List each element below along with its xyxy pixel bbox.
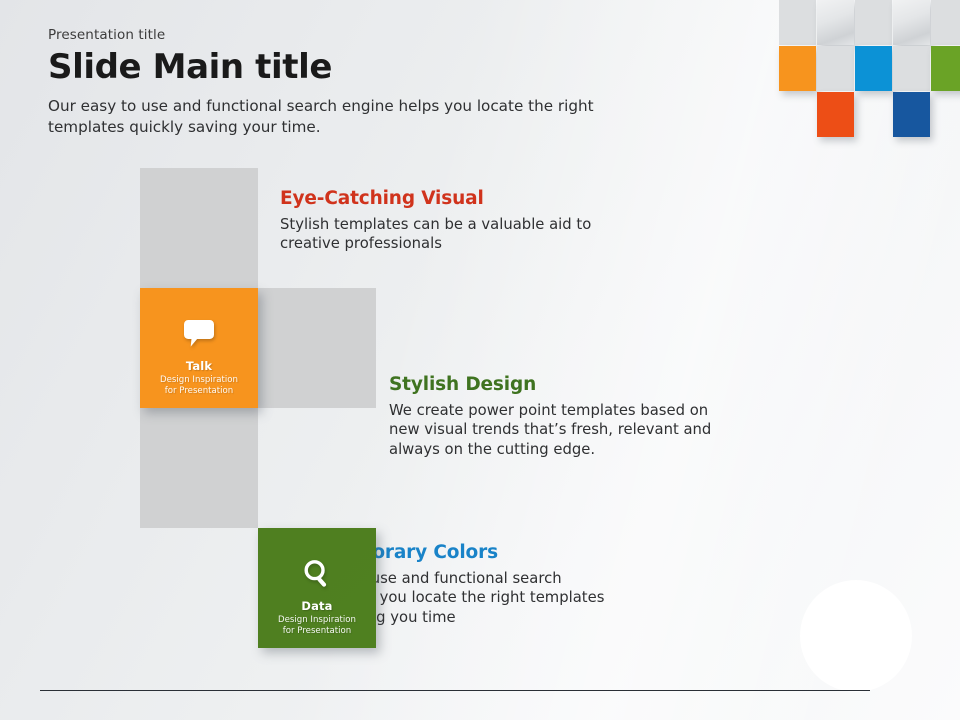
slide-canvas: Presentation title Slide Main title Our … [0, 0, 960, 720]
mosaic-tile [779, 0, 816, 45]
footer-divider [40, 690, 870, 691]
decorative-mosaic [779, 0, 960, 140]
feature-body-line3: always on the cutting edge. [389, 441, 595, 458]
image-placeholder [140, 408, 258, 528]
mosaic-tile [893, 46, 930, 91]
card-subtitle-line1: Design Inspiration [258, 615, 376, 626]
page-title: Slide Main title [48, 47, 668, 87]
speech-bubble-icon [140, 314, 258, 352]
image-placeholder [140, 168, 258, 288]
mosaic-tile-cyan [855, 46, 892, 91]
feature-body-line1: Stylish templates can be a valuable aid … [280, 216, 591, 233]
feature-body: We create power point templates based on… [389, 401, 739, 459]
image-placeholder [258, 288, 376, 408]
feature-body-line2: creative professionals [280, 235, 442, 252]
background-circle-accent [800, 580, 912, 692]
feature-body-line1: We create power point templates based on [389, 402, 708, 419]
mosaic-tile-orange [779, 46, 816, 91]
mosaic-tile-green [931, 46, 960, 91]
mosaic-tile [817, 46, 854, 91]
card-subtitle-line1: Design Inspiration [140, 375, 258, 386]
mosaic-tile-blue [893, 92, 930, 137]
feature-heading: Eye-Catching Visual [280, 188, 630, 210]
feature-body-line2: new visual trends that’s fresh, relevant… [389, 421, 711, 438]
card-subtitle-line2: for Presentation [258, 626, 376, 637]
slide-header: Presentation title Slide Main title Our … [48, 27, 668, 137]
mosaic-tile [817, 0, 854, 45]
card-subtitle: Design Inspiration for Presentation [140, 375, 258, 398]
feature-text-eye-catching-visual: Eye-Catching Visual Stylish templates ca… [280, 188, 630, 254]
card-title: Data [258, 599, 376, 613]
presentation-title: Presentation title [48, 27, 668, 43]
mosaic-tile [855, 0, 892, 45]
card-subtitle: Design Inspiration for Presentation [258, 615, 376, 638]
card-subtitle-line2: for Presentation [140, 386, 258, 397]
feature-card-talk[interactable]: Talk Design Inspiration for Presentation [140, 288, 258, 408]
card-title: Talk [140, 359, 258, 373]
mosaic-tile [893, 0, 930, 45]
feature-text-stylish-design: Stylish Design We create power point tem… [389, 374, 739, 459]
magnifier-icon [258, 554, 376, 592]
mosaic-tile [931, 0, 960, 45]
slide-subtitle: Our easy to use and functional search en… [48, 96, 613, 136]
mosaic-tile-red [817, 92, 854, 137]
feature-heading: Stylish Design [389, 374, 739, 396]
feature-card-data[interactable]: Data Design Inspiration for Presentation [258, 528, 376, 648]
feature-body: Stylish templates can be a valuable aid … [280, 215, 630, 253]
